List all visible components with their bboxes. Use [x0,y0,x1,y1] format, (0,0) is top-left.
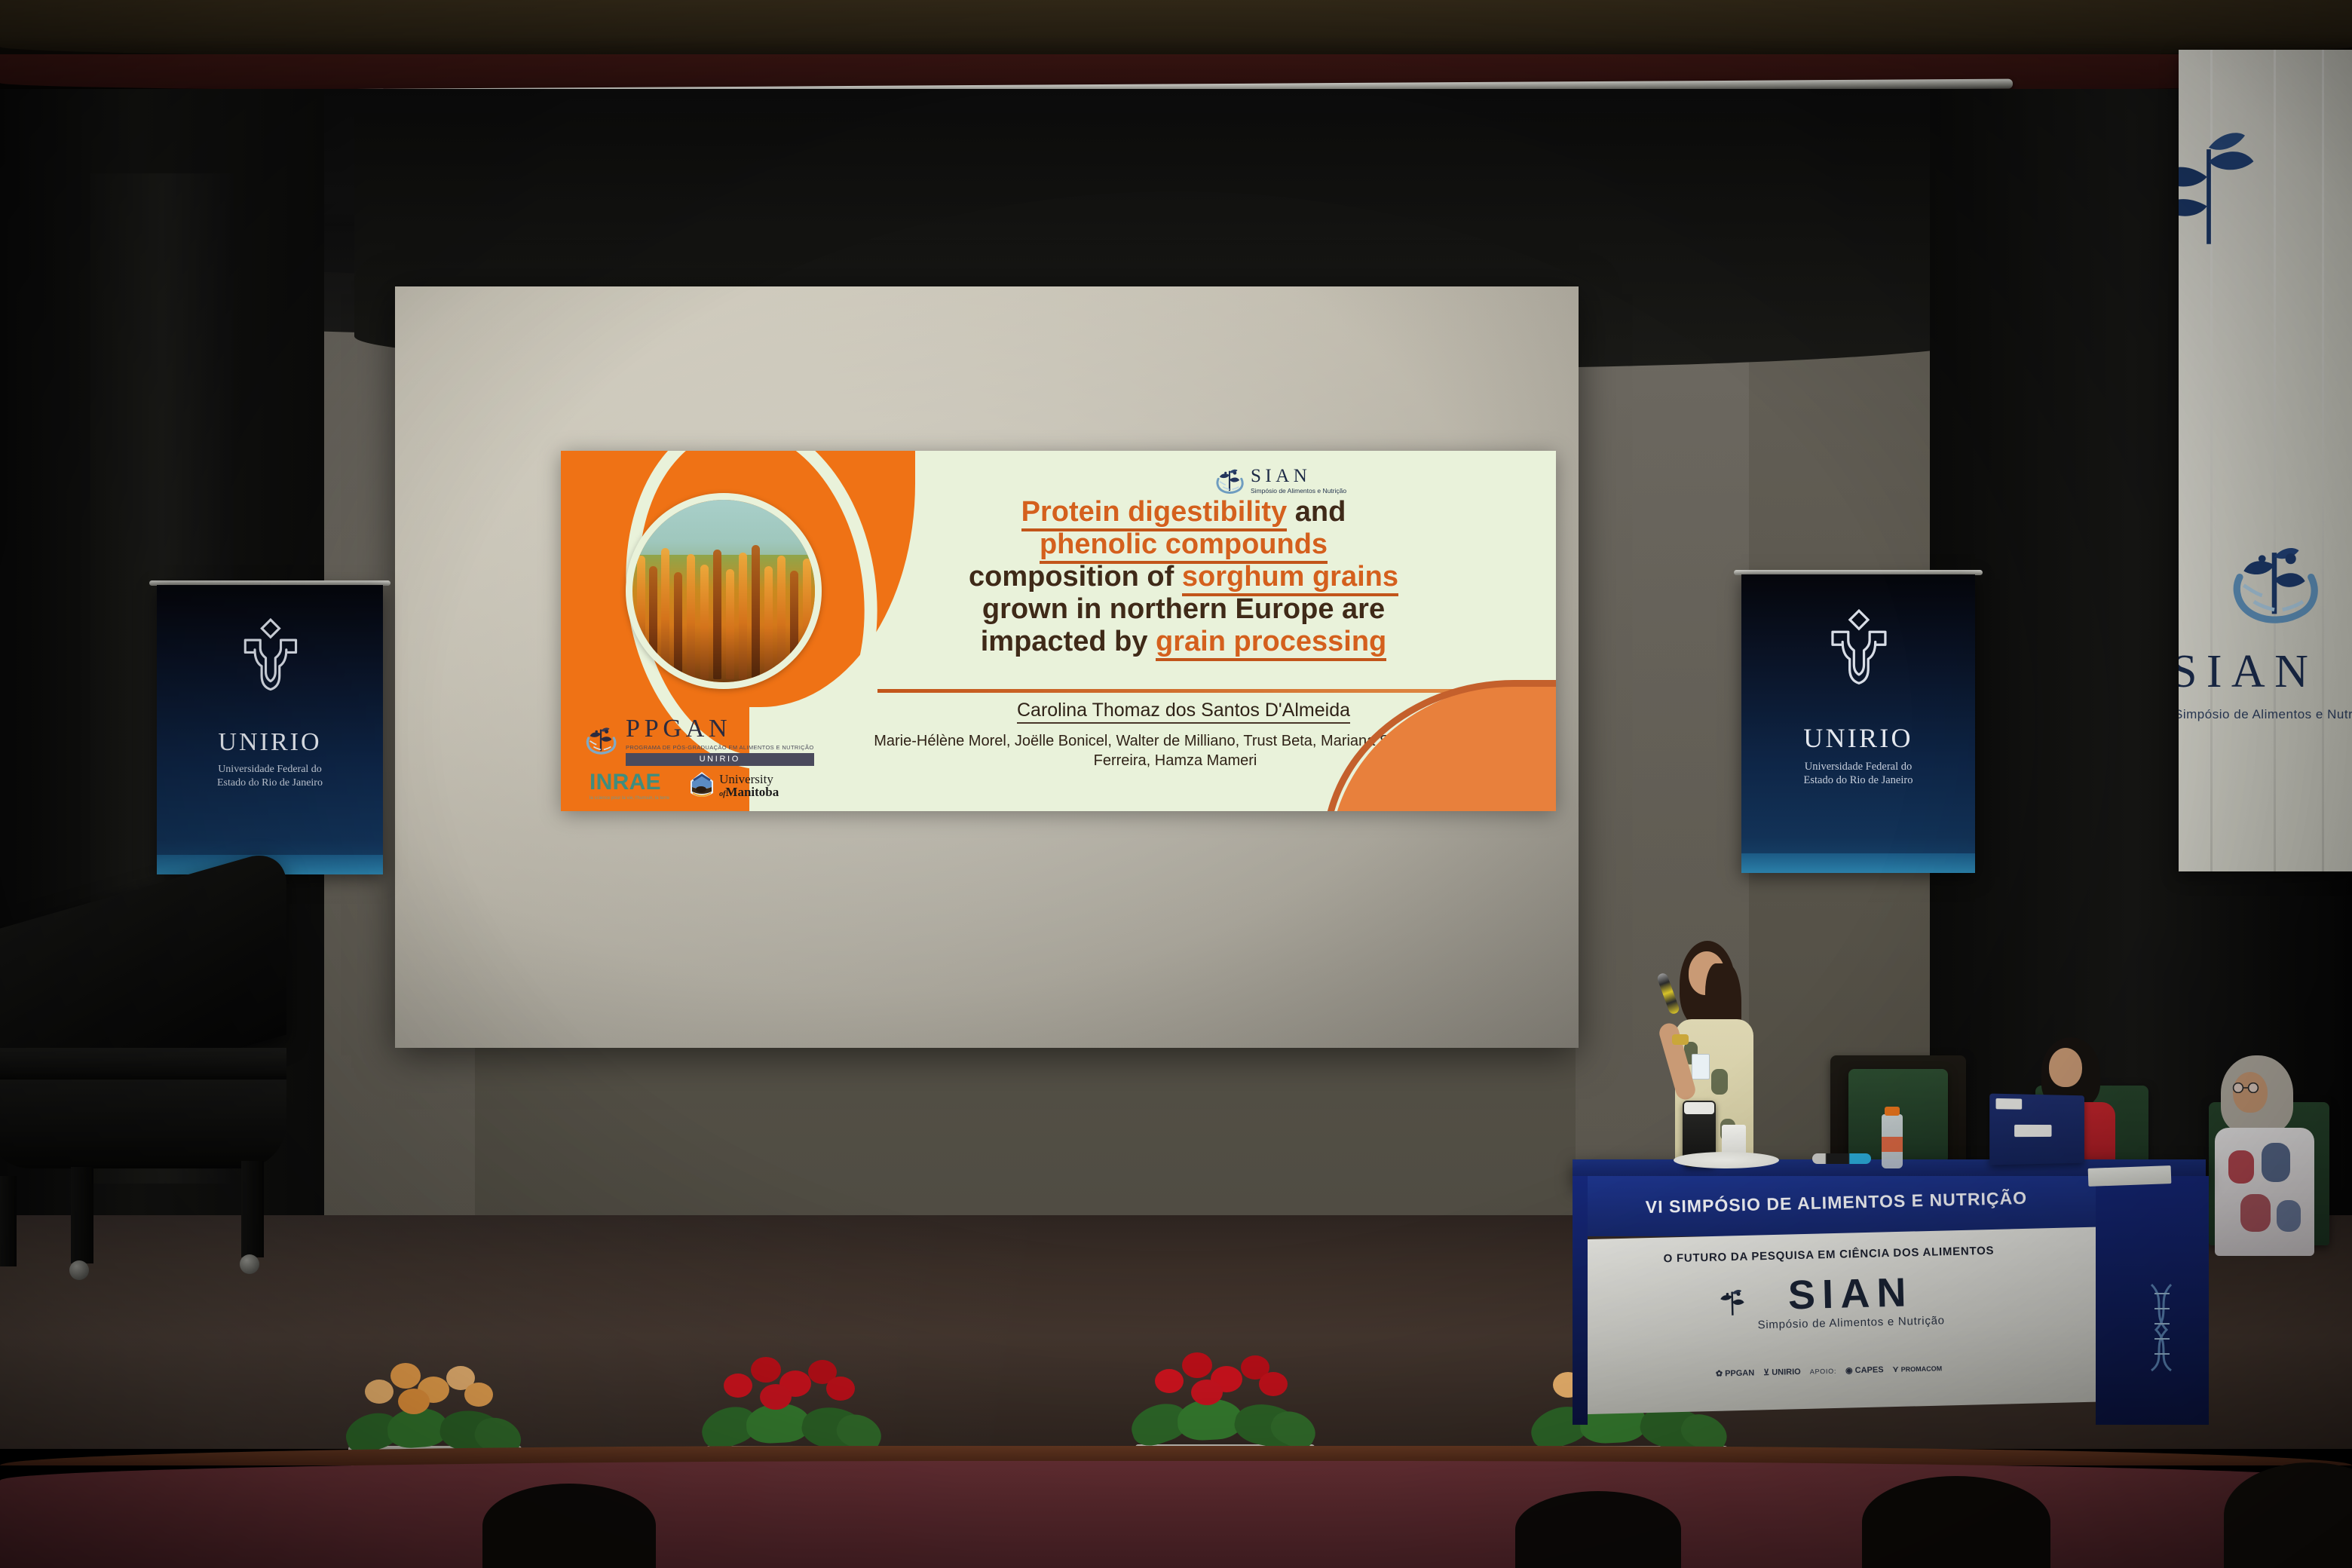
auditorium-scene: SIAN Simpósio de Alimentos e Nutrição Pr… [0,0,2352,1568]
sorghum-panicle [777,556,786,679]
unirio-banner-footer-right [1741,853,1975,873]
papers-on-table [2088,1165,2172,1187]
unirio-crest-icon [235,618,305,697]
ppgan-text-block: PPGAN PROGRAMA DE PÓS-GRADUAÇÃO EM ALIME… [626,716,814,766]
unirio-wordmark-right: UNIRIO [1741,722,1975,754]
slide-title: Protein digestibility and phenolic compo… [846,496,1521,658]
piano-caster [240,1254,259,1274]
unirio-subtitle-l1: Universidade Federal do [1741,760,1975,773]
manitoba-line1: University [719,773,779,786]
piano-bench-leg [0,1176,17,1266]
sponsor-capes-label: CAPES [1855,1365,1884,1375]
flower-bloom [1182,1352,1212,1378]
sian-banner-wordmark: SIAN [2179,645,2352,699]
ppgan-unirio-bar: UNIRIO [626,753,814,766]
title-line-2: phenolic compounds [846,528,1521,561]
sorghum-panicle [649,566,657,672]
unirio-subtitle-left: Universidade Federal do Estado do Rio de… [157,763,383,789]
glasses-icon [2230,1083,2263,1093]
sponsor-promacom-label: PROMACOM [1901,1364,1943,1373]
presentation-slide: SIAN Simpósio de Alimentos e Nutrição Pr… [561,451,1556,811]
manitoba-crest-icon [689,770,715,801]
name-badge [1692,1054,1710,1080]
title-plain-composition: composition of [969,561,1182,593]
piano-caster [69,1260,89,1280]
sorghum-panicle [713,550,721,679]
title-plain-grown: grown in northern Europe are [982,593,1385,625]
presenter-name-text: Carolina Thomaz dos Santos D'Almeida [1017,700,1350,724]
sponsor-promacom: ⋎ PROMACOM [1892,1363,1942,1374]
table-sian-wordmark: SIAN [1756,1271,1945,1316]
flower-bloom [724,1374,752,1398]
audience-head [1862,1476,2050,1568]
unirio-banner-left: UNIRIO Universidade Federal do Estado do… [157,585,383,874]
sorghum-panicle [674,572,682,679]
sorghum-panicle [661,548,669,676]
sian-logo-slide: SIAN Simpósio de Alimentos e Nutrição [1214,464,1346,496]
flower-bloom [826,1377,855,1401]
ppgan-wordmark: PPGAN [626,716,814,742]
sorghum-panicle [764,566,773,679]
flower-bloom [760,1384,792,1410]
inrae-logo: INRAE la science pour la vie, l'humain, … [590,771,669,801]
sian-plant-dna-icon [1214,464,1245,496]
sponsor-unirio-icon: ⊻ [1763,1367,1769,1377]
sorghum-panicle [739,553,747,679]
sian-logo-text: SIAN Simpósio de Alimentos e Nutrição [1251,467,1346,495]
flower-bloom [1259,1372,1288,1396]
flower-bloom [365,1380,394,1404]
sorghum-panicle [637,556,645,669]
sian-subtitle: Simpósio de Alimentos e Nutrição [1251,487,1346,495]
ceiling-wood-beam [0,0,2352,60]
partner-logos: INRAE la science pour la vie, l'humain, … [590,770,779,801]
sian-banner-right: SIAN Simpósio de Alimentos e Nutrição [2179,50,2352,871]
unirio-crest-icon [1822,609,1894,691]
inrae-tagline: la science pour la vie, l'humain, la ter… [590,796,669,801]
table-skirt-left [1573,1176,1588,1425]
audience-head [1515,1491,1681,1568]
sponsor-ppgan-label: PPGAN [1725,1368,1754,1378]
saucer-plate [1674,1152,1779,1168]
flower-bloom [390,1363,421,1389]
microphone [1656,972,1680,1015]
sponsor-ppgan-icon: ✿ [1716,1368,1723,1378]
panelist-head [2049,1048,2082,1087]
piano-leg [241,1161,264,1257]
manitoba-line2: ofManitoba [719,786,779,799]
water-bottle[interactable] [1882,1114,1903,1168]
title-plain-impacted: impacted by [981,626,1156,657]
dress-pattern [1711,1069,1728,1095]
unirio-subtitle-l1: Universidade Federal do [157,763,383,776]
dna-decoration-icon [2141,1282,2185,1372]
floral-pattern [2262,1143,2290,1182]
flower-bloom [1155,1369,1184,1393]
sian-leaf-decoration-icon [2179,122,2269,258]
title-line-1: Protein digestibility and [846,496,1521,528]
sorghum-panicle [687,554,695,678]
audience-head [482,1484,656,1568]
flower-bloom [751,1357,781,1383]
piano-leg [71,1167,93,1263]
bottle-cap [1885,1107,1900,1116]
manitoba-name: Manitoba [725,785,779,799]
unirio-subtitle-right: Universidade Federal do Estado do Rio de… [1741,760,1975,787]
sorghum-panicle [726,569,734,679]
laptop-sticker [2014,1125,2051,1137]
floral-pattern [2228,1150,2254,1184]
sian-wordmark: SIAN [1251,467,1346,485]
floral-pattern [2277,1200,2301,1232]
flower-bloom [1191,1380,1223,1405]
unirio-wordmark-left: UNIRIO [157,728,383,757]
unirio-subtitle-l2: Estado do Rio de Janeiro [157,776,383,790]
laptop-sticker [1996,1098,2023,1110]
ppgan-subtitle: PROGRAMA DE PÓS-GRADUAÇÃO EM ALIMENTOS E… [626,744,814,751]
sorghum-field-photo [626,493,822,689]
title-plain-and: and [1287,496,1346,528]
sponsor-ppgan: ✿ PPGAN [1716,1367,1755,1378]
title-highlight-sorghum: sorghum grains [1182,561,1398,596]
sorghum-panicle [700,565,709,679]
unirio-banner-right: UNIRIO Universidade Federal do Estado do… [1741,574,1975,873]
panelist-with-glasses [2210,1055,2331,1251]
title-line-3: composition of sorghum grains [846,561,1521,593]
sian-plant-dna-icon [1713,1283,1751,1325]
handheld-microphone[interactable] [1812,1153,1871,1164]
title-highlight-phenolic: phenolic compounds [1040,528,1328,564]
inrae-wordmark: INRAE [590,771,669,794]
tumbler-lid [1684,1102,1714,1114]
flower-bloom [398,1389,430,1414]
support-label: APOIO: [1810,1367,1837,1375]
title-divider [877,689,1488,693]
sponsor-capes: ◉ CAPES [1845,1364,1884,1375]
title-highlight-protein: Protein digestibility [1021,496,1288,531]
sian-plant-dna-icon [2225,532,2323,634]
ppgan-plant-dna-icon [583,722,618,761]
sian-banner-subtitle: Simpósio de Alimentos e Nutrição [2179,707,2352,722]
sponsor-unirio: ⊻ UNIRIO [1763,1367,1801,1377]
title-highlight-processing: grain processing [1156,626,1386,661]
piano-keyboard-lid [0,1048,286,1080]
sponsor-promacom-icon: ⋎ [1892,1364,1898,1374]
title-line-5: impacted by grain processing [846,626,1521,658]
manitoba-text: University ofManitoba [719,773,779,799]
sorghum-panicle [803,559,811,679]
sorghum-panicle [790,571,798,679]
unirio-subtitle-l2: Estado do Rio de Janeiro [1741,773,1975,787]
sponsor-unirio-label: UNIRIO [1772,1367,1801,1377]
manitoba-logo: University ofManitoba [689,770,779,801]
floral-pattern [2240,1194,2271,1232]
title-line-4: grown in northern Europe are [846,593,1521,626]
laptop[interactable] [1989,1094,2084,1165]
banner-fold [2322,50,2324,871]
bottle-label [1882,1137,1903,1152]
sponsor-capes-icon: ◉ [1845,1365,1853,1375]
flower-bloom [464,1383,493,1407]
wristwatch [1672,1034,1689,1045]
photo-field [632,555,815,682]
ceiling [0,0,2352,90]
sorghum-panicle [752,545,760,679]
ppgan-logo: PPGAN PROGRAMA DE PÓS-GRADUAÇÃO EM ALIME… [583,716,814,766]
banner-fold [2274,50,2276,871]
